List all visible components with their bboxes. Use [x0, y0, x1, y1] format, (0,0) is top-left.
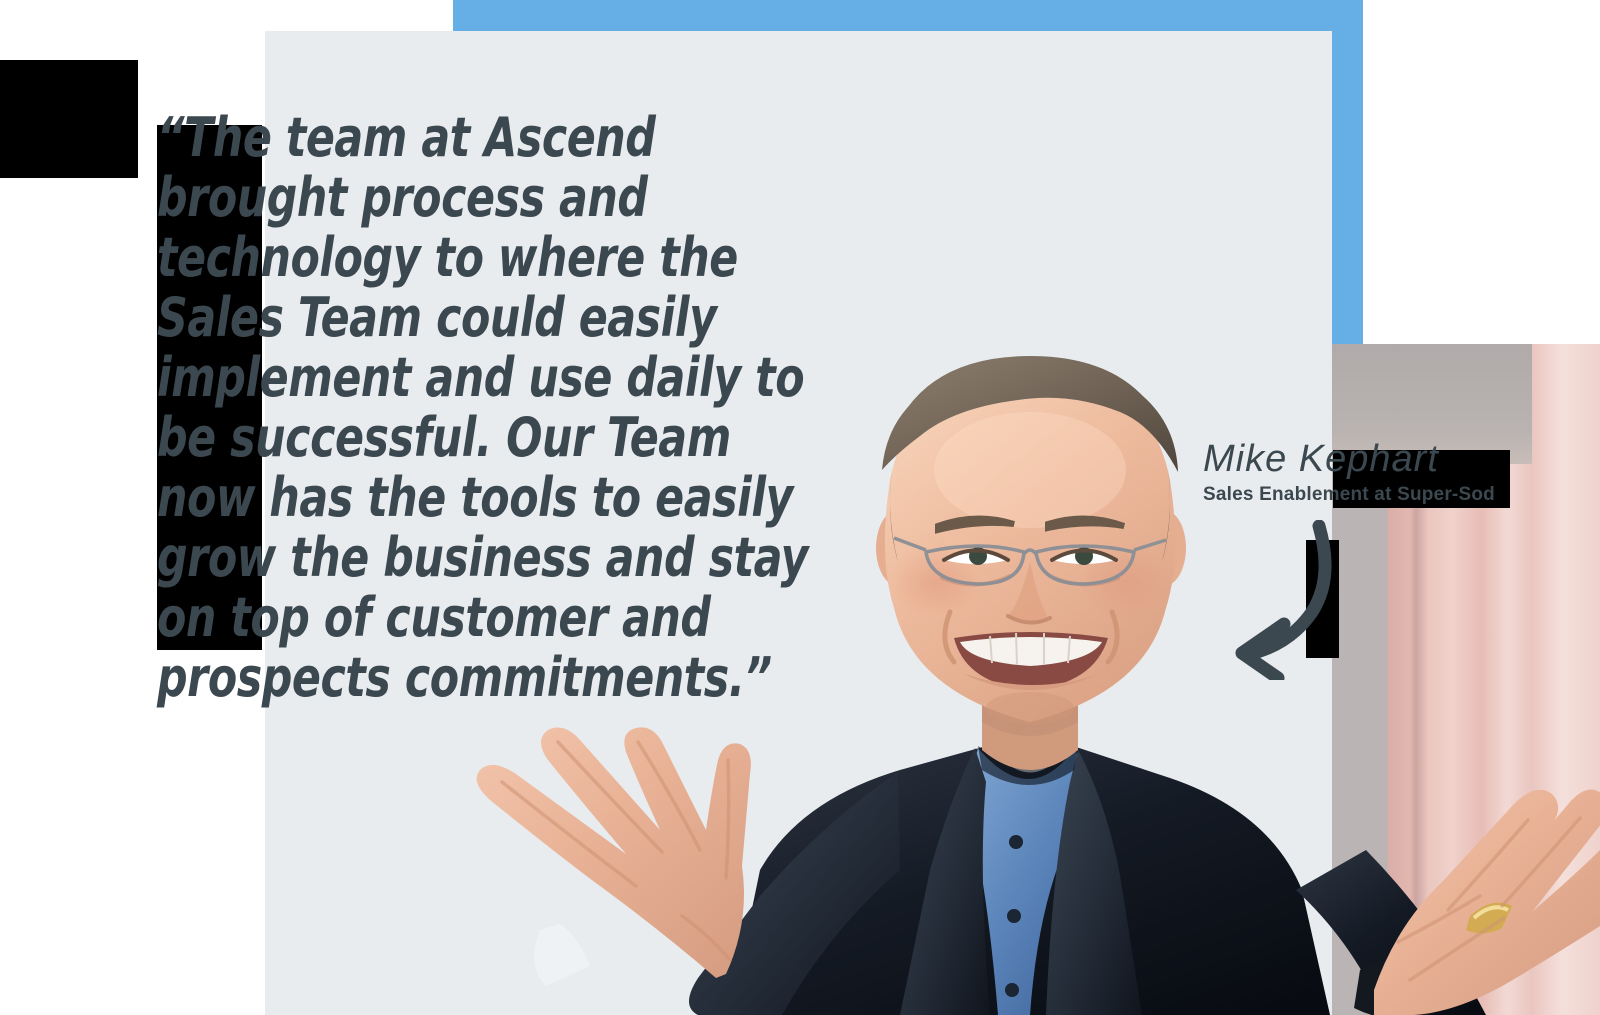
testimonial-stage: “ — [0, 0, 1600, 1015]
person-name: Mike Kephart — [1203, 438, 1543, 480]
attribution-block: Mike Kephart Sales Enablement at Super-S… — [1203, 438, 1543, 508]
decorative-quote-mark-block: “ — [0, 60, 138, 178]
curved-arrow-icon — [1216, 520, 1376, 680]
testimonial-quote-text: “The team at Ascend brought process and … — [157, 108, 826, 708]
person-role: Sales Enablement at Super-Sod — [1203, 482, 1510, 508]
quote-mark-icon: “ — [0, 60, 138, 178]
